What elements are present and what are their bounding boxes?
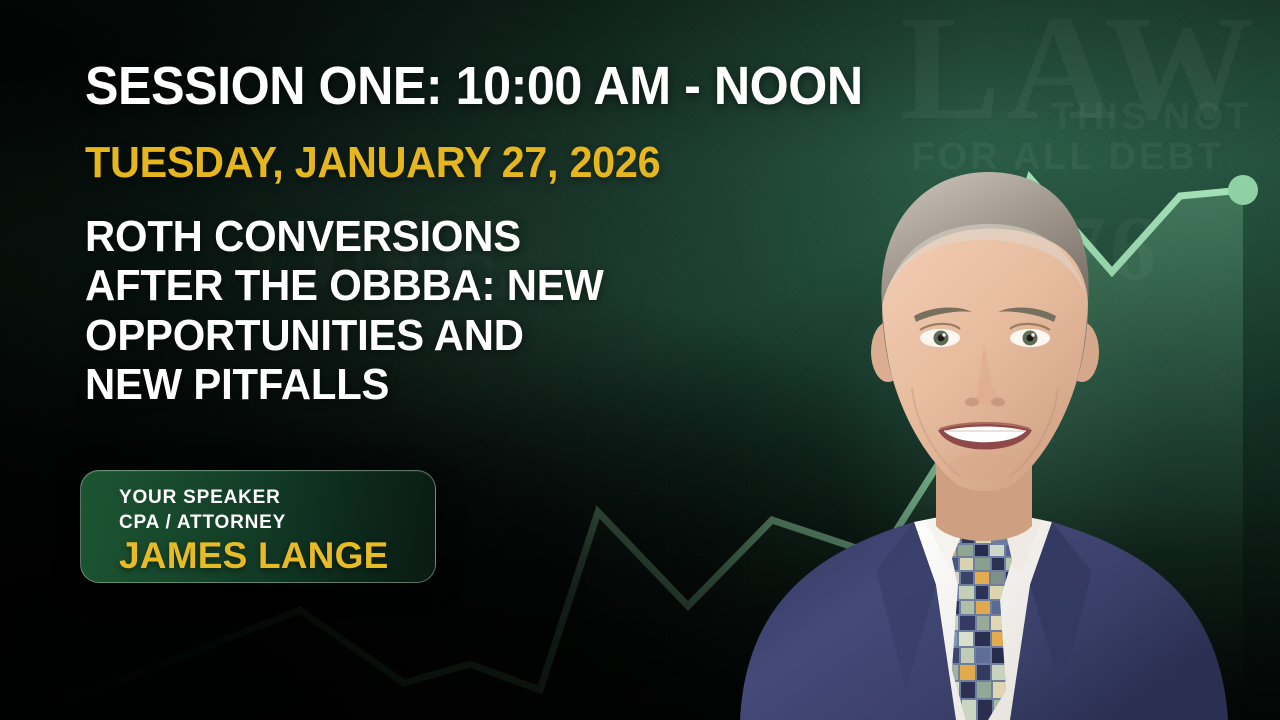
session-heading: SESSION ONE: 10:00 AM - NOON — [85, 58, 863, 115]
speaker-badge: YOUR SPEAKER CPA / ATTORNEY JAMES LANGE — [80, 470, 436, 583]
speaker-badge-label-credentials: CPA / ATTORNEY — [119, 510, 425, 535]
speaker-badge-label-your-speaker: YOUR SPEAKER — [119, 485, 425, 510]
talk-title-line-4: NEW PITFALLS — [85, 360, 807, 409]
talk-title-line-1: ROTH CONVERSIONS — [85, 212, 807, 261]
talk-title-line-2: AFTER THE OBBBA: NEW — [85, 261, 807, 310]
promo-banner: LAW THIS NOT FOR ALL DEBT 1776 ONE — [0, 0, 1280, 720]
talk-title: ROTH CONVERSIONS AFTER THE OBBBA: NEW OP… — [85, 212, 807, 409]
talk-title-line-3: OPPORTUNITIES AND — [85, 311, 807, 360]
session-date: TUESDAY, JANUARY 27, 2026 — [85, 140, 660, 186]
speaker-name: JAMES LANGE — [119, 537, 425, 576]
text-content: SESSION ONE: 10:00 AM - NOON TUESDAY, JA… — [0, 0, 1280, 720]
